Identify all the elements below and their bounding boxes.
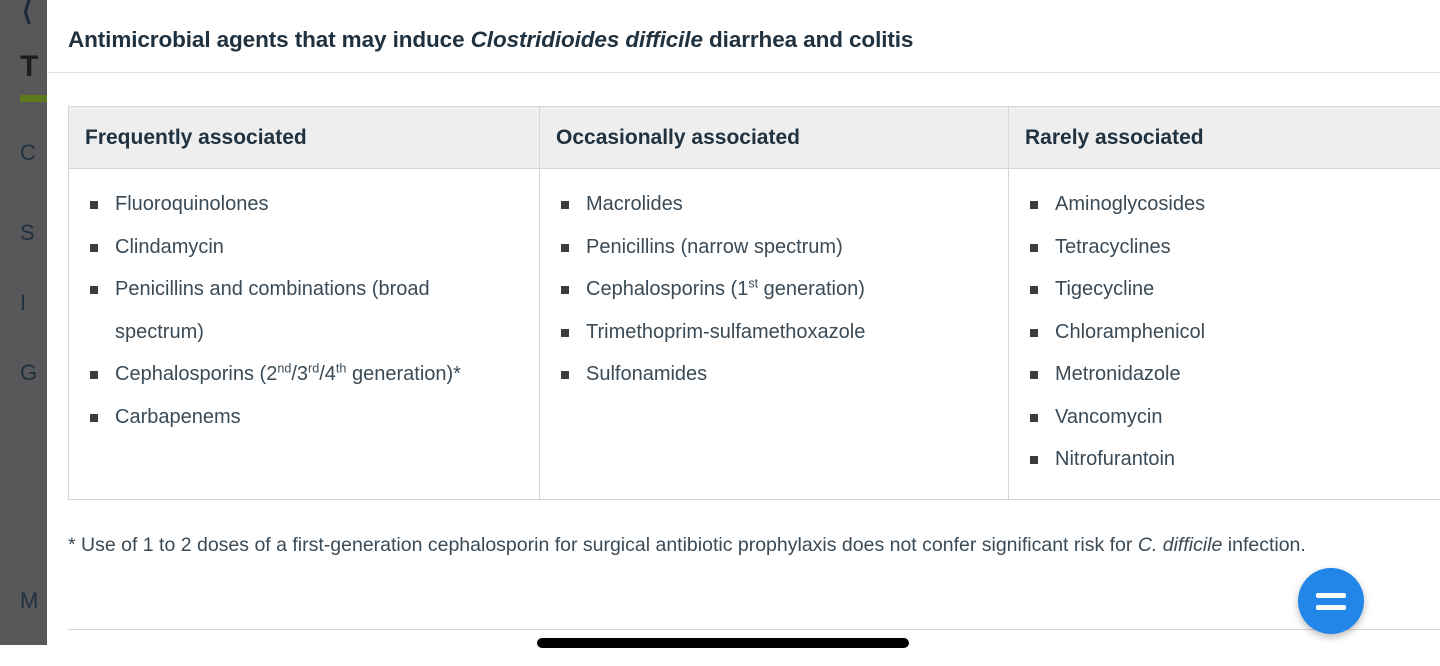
table-row: Fluoroquinolones Clindamycin Penicillins… xyxy=(69,169,1440,500)
cell-frequently-associated: Fluoroquinolones Clindamycin Penicillins… xyxy=(69,169,540,500)
list-item-label: Nitrofurantoin xyxy=(1055,448,1175,470)
column-header-frequently: Frequently associated xyxy=(69,107,540,169)
list-item: Metronidazole xyxy=(1025,353,1440,396)
list-item: Cephalosporins (1st generation) xyxy=(556,268,992,311)
list-item: Macrolides xyxy=(556,183,992,226)
list-item-label: Macrolides xyxy=(586,193,683,215)
list-item-label: Tetracyclines xyxy=(1055,236,1171,258)
hamburger-menu-icon xyxy=(1316,593,1346,598)
horizontal-scrollbar-track[interactable] xyxy=(0,645,1440,666)
cell-occasionally-associated: Macrolides Penicillins (narrow spectrum)… xyxy=(540,169,1009,500)
list-item-label: Carbapenems xyxy=(115,406,241,428)
list-frequently-associated: Fluoroquinolones Clindamycin Penicillins… xyxy=(85,183,523,438)
list-item-label: Penicillins (narrow spectrum) xyxy=(586,236,843,258)
modal-title-prefix: Antimicrobial agents that may induce xyxy=(68,27,471,52)
page-root: ⟨ T CSIGM Antimicrobial agents that may … xyxy=(0,0,1440,666)
footer-divider xyxy=(68,629,1440,630)
superscript-nd: nd xyxy=(277,361,291,375)
superscript-th: th xyxy=(336,361,347,375)
hamburger-menu-icon xyxy=(1316,605,1346,610)
list-item: Cephalosporins (2nd/3rd/4th generation)* xyxy=(85,353,523,396)
modal-title-suffix: diarrhea and colitis xyxy=(703,27,913,52)
background-sidebar: ⟨ T CSIGM xyxy=(0,0,48,666)
table-footnote: * Use of 1 to 2 doses of a first-generat… xyxy=(68,526,1440,564)
list-item-label: /4 xyxy=(319,363,336,385)
horizontal-scrollbar-thumb[interactable] xyxy=(537,638,909,648)
list-item: Penicillins and combinations (broad spec… xyxy=(85,268,523,353)
column-header-rarely: Rarely associated xyxy=(1009,107,1440,169)
superscript-rd: rd xyxy=(308,361,319,375)
list-item-label: Vancomycin xyxy=(1055,406,1162,428)
list-item-label: Cephalosporins (1 xyxy=(586,278,748,300)
modal-title-species: Clostridioides difficile xyxy=(471,27,703,52)
list-item: Sulfonamides xyxy=(556,353,992,396)
list-item: Aminoglycosides xyxy=(1025,183,1440,226)
background-page-title: T xyxy=(20,50,39,84)
list-item-label: Aminoglycosides xyxy=(1055,193,1205,215)
list-item: Trimethoprim-sulfamethoxazole xyxy=(556,311,992,354)
list-item: Chloramphenicol xyxy=(1025,311,1440,354)
list-item: Carbapenems xyxy=(85,396,523,439)
list-item-label: Tigecycline xyxy=(1055,278,1154,300)
background-nav-item-1[interactable]: S xyxy=(20,220,35,246)
list-item: Clindamycin xyxy=(85,226,523,269)
accent-bar xyxy=(20,95,48,102)
footnote-species: C. difficile xyxy=(1138,534,1223,556)
list-item-label: Metronidazole xyxy=(1055,363,1181,385)
antimicrobial-agents-table: Frequently associated Occasionally assoc… xyxy=(68,106,1440,500)
background-nav-item-0[interactable]: C xyxy=(20,140,36,166)
list-item-label: Fluoroquinolones xyxy=(115,193,268,215)
hamburger-menu-fab[interactable] xyxy=(1298,568,1364,634)
list-item-label: /3 xyxy=(291,363,308,385)
background-nav-item-3[interactable]: G xyxy=(20,360,37,386)
modal-dialog: Antimicrobial agents that may induce Clo… xyxy=(47,0,1440,666)
list-item: Tetracyclines xyxy=(1025,226,1440,269)
list-item: Nitrofurantoin xyxy=(1025,438,1440,481)
modal-header: Antimicrobial agents that may induce Clo… xyxy=(47,0,1440,73)
list-item-label: Penicillins and combinations (broad spec… xyxy=(115,278,430,343)
list-item: Tigecycline xyxy=(1025,268,1440,311)
footnote-part2: infection. xyxy=(1222,534,1305,556)
footnote-part1: * Use of 1 to 2 doses of a first-generat… xyxy=(68,534,1138,556)
list-item-label: Chloramphenicol xyxy=(1055,321,1205,343)
superscript-st: st xyxy=(748,276,758,290)
chevron-left-icon[interactable]: ⟨ xyxy=(22,0,32,24)
table-header-row: Frequently associated Occasionally assoc… xyxy=(69,107,1440,169)
list-item: Vancomycin xyxy=(1025,396,1440,439)
list-item-label: Clindamycin xyxy=(115,236,224,258)
list-item-label: generation)* xyxy=(346,363,461,385)
list-item-label: generation) xyxy=(758,278,865,300)
cell-rarely-associated: Aminoglycosides Tetracyclines Tigecyclin… xyxy=(1009,169,1440,500)
list-occasionally-associated: Macrolides Penicillins (narrow spectrum)… xyxy=(556,183,992,396)
list-rarely-associated: Aminoglycosides Tetracyclines Tigecyclin… xyxy=(1025,183,1440,481)
list-item-label: Trimethoprim-sulfamethoxazole xyxy=(586,321,865,343)
list-item: Fluoroquinolones xyxy=(85,183,523,226)
list-item: Penicillins (narrow spectrum) xyxy=(556,226,992,269)
list-item-label: Sulfonamides xyxy=(586,363,707,385)
background-nav-item-4[interactable]: M xyxy=(20,588,38,614)
background-nav-item-2[interactable]: I xyxy=(20,290,26,316)
modal-body: Frequently associated Occasionally assoc… xyxy=(47,73,1440,666)
column-header-occasionally: Occasionally associated xyxy=(540,107,1009,169)
list-item-label: Cephalosporins (2 xyxy=(115,363,277,385)
page-title: Antimicrobial agents that may induce Clo… xyxy=(68,27,913,53)
